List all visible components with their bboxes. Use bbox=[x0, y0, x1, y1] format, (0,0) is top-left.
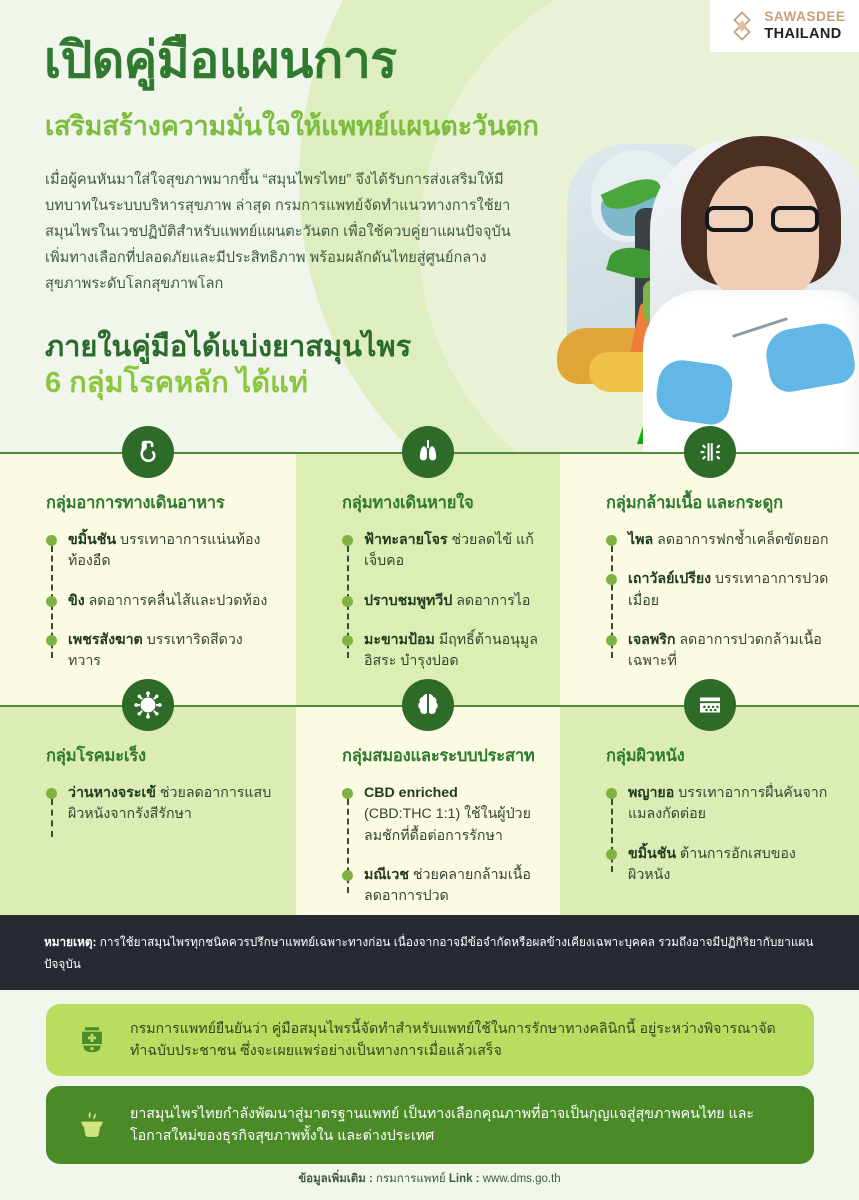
herb-list: ฟ้าทะลายโจร ช่วยลดไข้ แก้เจ็บคอ ปราบชมพู… bbox=[342, 530, 538, 672]
page-subtitle: เสริมสร้างความมั่นใจให้แพทย์แผนตะวันตก bbox=[45, 112, 539, 142]
lungs-icon bbox=[402, 426, 454, 478]
group-title: กลุ่มทางเดินหายใจ bbox=[342, 490, 538, 516]
list-item: ฟ้าทะลายโจร ช่วยลดไข้ แก้เจ็บคอ bbox=[342, 530, 538, 573]
note-label: หมายเหตุ: bbox=[44, 935, 97, 949]
page-title: เปิดคู่มือแผนการ bbox=[44, 34, 397, 87]
herb-name: ไพล bbox=[628, 532, 653, 548]
herb-list: พญายอ บรรเทาอาการผื่นคันจากแมลงกัดต่อย ข… bbox=[606, 783, 837, 886]
bullet-dot bbox=[342, 596, 353, 607]
bullet-dot bbox=[606, 635, 617, 646]
herb-list: ขมิ้นชัน บรรเทาอาการแน่นท้อง ท้องอืด ขิง… bbox=[46, 530, 274, 672]
virus-cell-icon bbox=[122, 679, 174, 731]
credit-link-label: Link : bbox=[449, 1173, 480, 1185]
group-title: กลุ่มอาการทางเดินอาหาร bbox=[46, 490, 274, 516]
herb-desc: ลดอาการฟกช้ำเคล็ดขัดยอก bbox=[653, 532, 828, 548]
bullet-dot bbox=[46, 596, 57, 607]
stomach-icon bbox=[122, 426, 174, 478]
credit-line: ข้อมูลเพิ่มเติม : กรมการแพทย์ Link : www… bbox=[0, 1170, 859, 1188]
list-item: ปราบชมพูทวีป ลดอาการไอ bbox=[342, 591, 538, 612]
medical-kit-icon bbox=[72, 1019, 112, 1061]
herb-name: มะขามป้อม bbox=[364, 632, 435, 648]
herb-desc: (CBD:THC 1:1) ใช้ในผู้ป่วยลมชักที่ดื้อต่… bbox=[364, 806, 531, 843]
credit-label: ข้อมูลเพิ่มเติม : bbox=[298, 1173, 373, 1185]
list-item: มณีเวช ช่วยคลายกล้ามเนื้อลดอาการปวด bbox=[342, 865, 538, 908]
group-card-cancer[interactable]: กลุ่มโรคมะเร็ง ว่านหางจระเข้ ช่วยลดอาการ… bbox=[0, 705, 296, 915]
bullet-dot bbox=[606, 574, 617, 585]
herb-name: มณีเวช bbox=[364, 867, 409, 883]
footer-callout-industry: ยาสมุนไพรไทยกำลังพัฒนาสู่มาตรฐานแพทย์ เป… bbox=[46, 1086, 814, 1164]
list-item: ขมิ้นชัน ต้านการอักเสบของผิวหนัง bbox=[606, 844, 837, 887]
herb-name: ฟ้าทะลายโจร bbox=[364, 532, 448, 548]
group-card-dermatology[interactable]: กลุ่มผิวหนัง พญายอ บรรเทาอาการผื่นคันจาก… bbox=[560, 705, 859, 915]
bullet-dot bbox=[342, 635, 353, 646]
list-item: เถาวัลย์เปรียง บรรเทาอาการปวดเมื่อย bbox=[606, 569, 837, 612]
sawasdee-diamond-logo-icon bbox=[727, 11, 757, 41]
hero-section: SAWASDEE THAILAND เปิดคู่มือแผนการ เสริม… bbox=[0, 0, 859, 452]
skin-patch-icon bbox=[684, 679, 736, 731]
group-card-musculoskeletal[interactable]: กลุ่มกล้ามเนื้อ และกระดูก ไพล ลดอาการฟกช… bbox=[560, 452, 859, 705]
disclaimer-note: หมายเหตุ: การใช้ยาสมุนไพรทุกชนิดควรปรึกษ… bbox=[0, 915, 859, 990]
herb-name: ขมิ้นชัน bbox=[628, 846, 676, 862]
herb-name: เพชรสังฆาต bbox=[68, 632, 143, 648]
brain-icon bbox=[402, 679, 454, 731]
herb-name: ขมิ้นชัน bbox=[68, 532, 116, 548]
bullet-dot bbox=[606, 849, 617, 860]
footer-callout-text: กรมการแพทย์ยืนยันว่า คู่มือสมุนไพรนี้จัด… bbox=[130, 1018, 788, 1062]
herb-name: ปราบชมพูทวีป bbox=[364, 593, 452, 609]
bullet-dot bbox=[46, 788, 57, 799]
list-item: ว่านหางจระเข้ ช่วยลดอาการแสบผิวหนังจากรั… bbox=[46, 783, 274, 826]
hero-photo-collage bbox=[539, 130, 859, 452]
list-item: ไพล ลดอาการฟกช้ำเคล็ดขัดยอก bbox=[606, 530, 837, 551]
footer-section: กรมการแพทย์ยืนยันว่า คู่มือสมุนไพรนี้จัด… bbox=[0, 990, 859, 1200]
group-card-respiratory[interactable]: กลุ่มทางเดินหายใจ ฟ้าทะลายโจร ช่วยลดไข้ … bbox=[296, 452, 560, 705]
herb-name: พญายอ bbox=[628, 785, 674, 801]
mortar-pestle-icon bbox=[72, 1104, 112, 1146]
disease-groups-grid: กลุ่มอาการทางเดินอาหาร ขมิ้นชัน บรรเทาอา… bbox=[0, 452, 859, 915]
note-text: การใช้ยาสมุนไพรทุกชนิดควรปรึกษาแพทย์เฉพา… bbox=[44, 935, 813, 971]
group-title: กลุ่มสมองและระบบประสาท bbox=[342, 743, 538, 769]
herb-list: ไพล ลดอาการฟกช้ำเคล็ดขัดยอก เถาวัลย์เปรี… bbox=[606, 530, 837, 672]
bullet-dot bbox=[46, 635, 57, 646]
bullet-dot bbox=[342, 535, 353, 546]
herb-list: ว่านหางจระเข้ ช่วยลดอาการแสบผิวหนังจากรั… bbox=[46, 783, 274, 826]
herb-name: ว่านหางจระเข้ bbox=[68, 785, 156, 801]
group-card-neurological[interactable]: กลุ่มสมองและระบบประสาท CBD enriched (CBD… bbox=[296, 705, 560, 915]
list-item: เพชรสังฆาต บรรเทาริดสีดวงทวาร bbox=[46, 630, 274, 673]
bullet-dot bbox=[46, 535, 57, 546]
list-item: เจลพริก ลดอาการปวดกล้ามเนื้อเฉพาะที่ bbox=[606, 630, 837, 673]
section-lead-in: ภายในคู่มือได้แบ่งยาสมุนไพร 6 กลุ่มโรคหล… bbox=[45, 330, 525, 402]
bone-icon bbox=[684, 426, 736, 478]
herb-name: CBD enriched bbox=[364, 785, 458, 801]
list-item: ขมิ้นชัน บรรเทาอาการแน่นท้อง ท้องอืด bbox=[46, 530, 274, 573]
bullet-dot bbox=[342, 870, 353, 881]
group-title: กลุ่มผิวหนัง bbox=[606, 743, 837, 769]
infographic-page: SAWASDEE THAILAND เปิดคู่มือแผนการ เสริม… bbox=[0, 0, 859, 1200]
brand-logo[interactable]: SAWASDEE THAILAND bbox=[710, 0, 859, 52]
footer-callout-text: ยาสมุนไพรไทยกำลังพัฒนาสู่มาตรฐานแพทย์ เป… bbox=[130, 1103, 788, 1147]
bullet-dot bbox=[606, 788, 617, 799]
herb-name: เถาวัลย์เปรียง bbox=[628, 571, 711, 587]
group-title: กลุ่มกล้ามเนื้อ และกระดูก bbox=[606, 490, 837, 516]
list-item: CBD enriched (CBD:THC 1:1) ใช้ในผู้ป่วยล… bbox=[342, 783, 538, 847]
logo-line-1: SAWASDEE bbox=[764, 9, 845, 24]
section-lead-line-1: ภายในคู่มือได้แบ่งยาสมุนไพร bbox=[45, 330, 525, 366]
list-item: ขิง ลดอาการคลื่นไส้และปวดท้อง bbox=[46, 591, 274, 612]
group-title: กลุ่มโรคมะเร็ง bbox=[46, 743, 274, 769]
bullet-dot bbox=[606, 535, 617, 546]
herb-desc: ลดอาการไอ bbox=[452, 593, 530, 609]
list-item: มะขามป้อม มีฤทธิ์ต้านอนุมูลอิสระ บำรุงปอ… bbox=[342, 630, 538, 673]
bullet-dot bbox=[342, 788, 353, 799]
eyeglasses bbox=[705, 206, 819, 232]
credit-source: กรมการแพทย์ bbox=[373, 1173, 449, 1185]
herb-list: CBD enriched (CBD:THC 1:1) ใช้ในผู้ป่วยล… bbox=[342, 783, 538, 907]
list-item: พญายอ บรรเทาอาการผื่นคันจากแมลงกัดต่อย bbox=[606, 783, 837, 826]
group-card-digestive[interactable]: กลุ่มอาการทางเดินอาหาร ขมิ้นชัน บรรเทาอา… bbox=[0, 452, 296, 705]
footer-callout-clinical: กรมการแพทย์ยืนยันว่า คู่มือสมุนไพรนี้จัด… bbox=[46, 1004, 814, 1076]
herb-name: ขิง bbox=[68, 593, 85, 609]
herb-name: เจลพริก bbox=[628, 632, 675, 648]
section-lead-line-2: 6 กลุ่มโรคหลัก ได้แท่ bbox=[45, 366, 525, 402]
logo-line-2: THAILAND bbox=[764, 26, 841, 42]
scientist-face bbox=[707, 166, 819, 304]
credit-url[interactable]: www.dms.go.th bbox=[480, 1173, 561, 1185]
intro-paragraph: เมื่อผู้คนหันมาใส่ใจสุขภาพมากขึ้น “สมุนไ… bbox=[45, 168, 515, 298]
herb-desc: ลดอาการคลื่นไส้และปวดท้อง bbox=[85, 593, 268, 609]
